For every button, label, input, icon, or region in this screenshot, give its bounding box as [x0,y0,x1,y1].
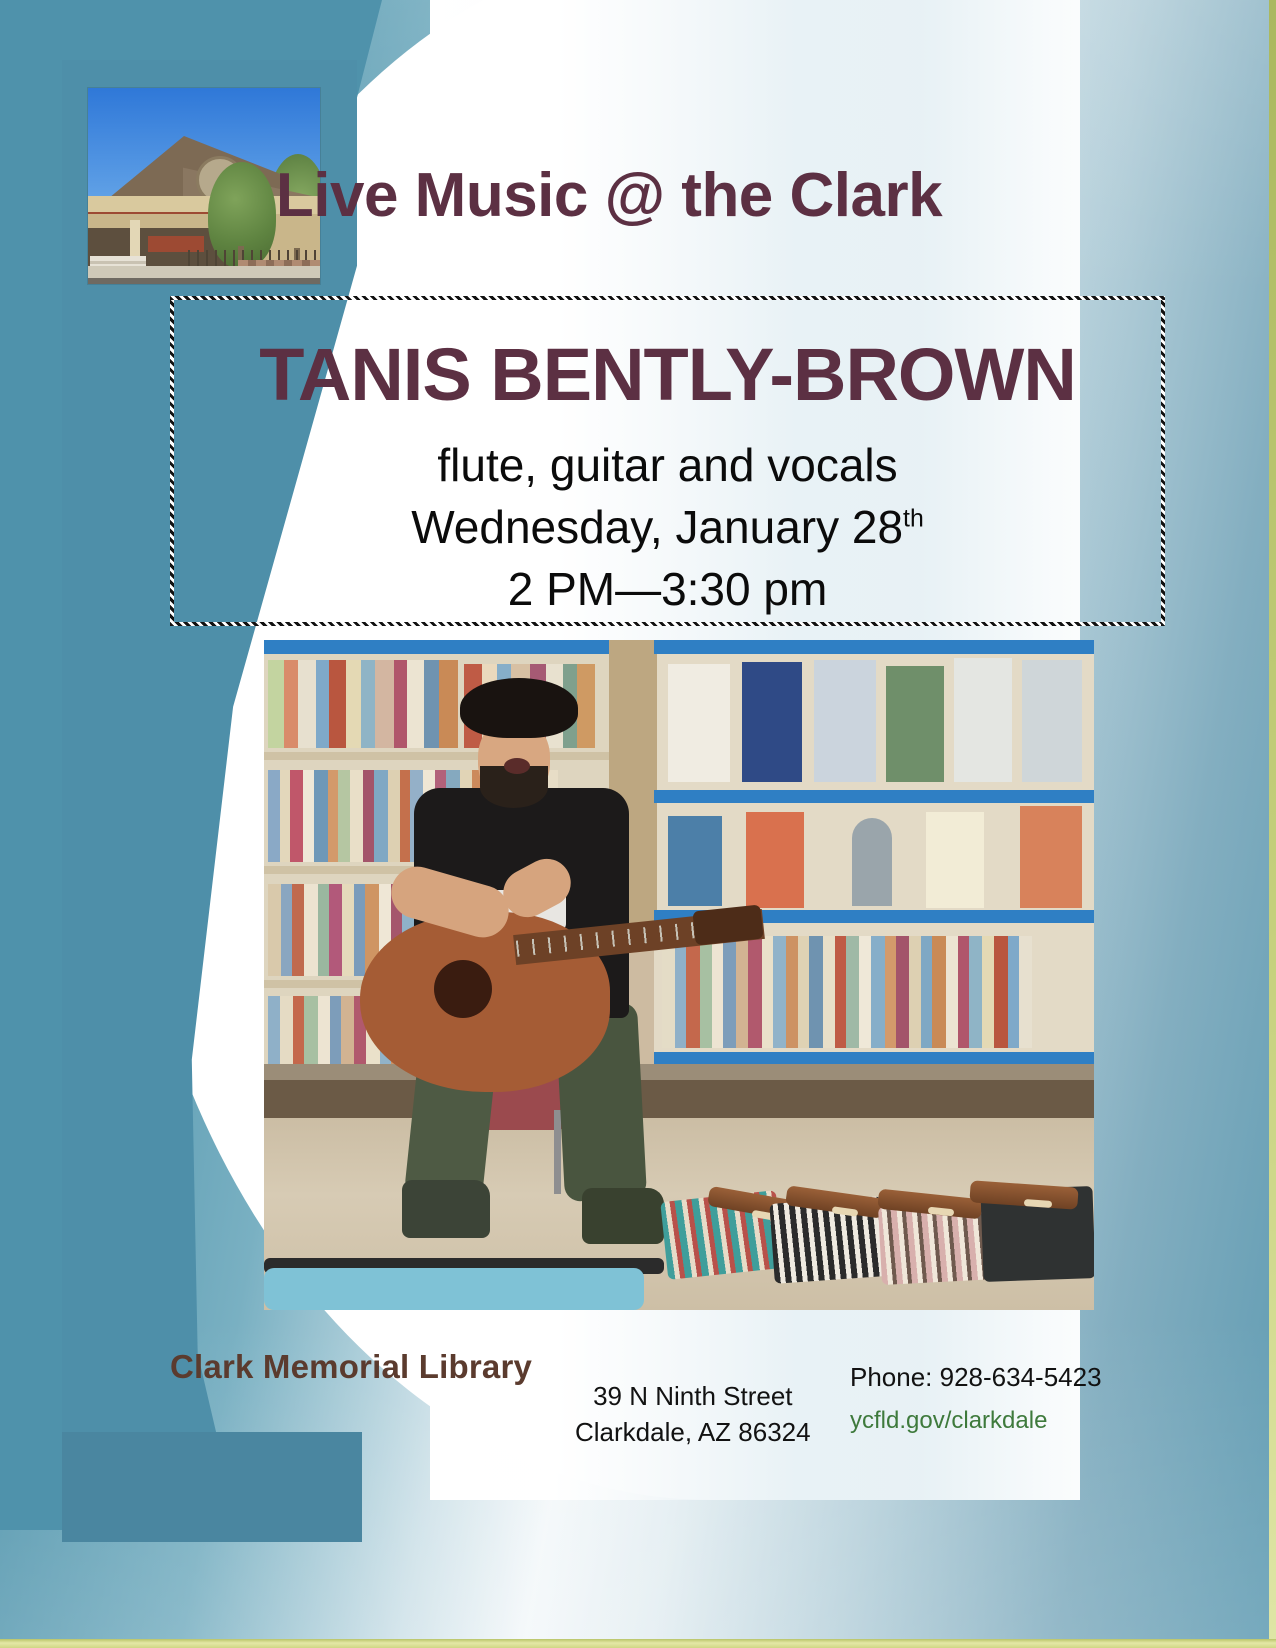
page-title: Live Music @ the Clark [0,160,1218,231]
instrument-case [264,1268,644,1310]
display-book [668,664,730,782]
display-book [668,816,722,906]
library-name: Clark Memorial Library [170,1348,532,1386]
address-street: 39 N Ninth Street [575,1378,811,1414]
performer-boot-right [582,1188,664,1244]
shelf-rail [264,640,609,654]
library-phone: Phone: 928-634-5423 [850,1362,1102,1393]
right-olive-edge [1269,0,1276,1648]
library-contact: Phone: 928-634-5423 ycfld.gov/clarkdale [850,1362,1102,1435]
display-book [1020,806,1082,908]
library-address: 39 N Ninth Street Clarkdale, AZ 86324 [575,1378,811,1450]
performer-boot-left [402,1180,490,1238]
instruments-line: flute, guitar and vocals [170,434,1165,496]
display-book [746,812,804,908]
display-book [1022,660,1082,782]
time-line: 2 PM—3:30 pm [170,558,1165,620]
display-book [926,812,984,908]
native-flute-collection [664,1170,1084,1290]
date-ordinal-suffix: th [903,506,924,533]
performer-hair [460,678,578,738]
shelf-rail [654,790,1094,803]
bottom-olive-edge [0,1639,1276,1648]
performance-photo [264,640,1094,1310]
book-row [662,936,1092,1048]
date-text: Wednesday, January 28 [411,501,903,553]
display-book [742,662,802,782]
book-row [268,660,458,748]
poster-canvas: Live Music @ the Clark TANIS BENTLY-BROW… [0,0,1276,1648]
performer-name: TANIS BENTLY-BROWN [170,332,1165,417]
street [88,278,320,284]
address-city-state-zip: Clarkdale, AZ 86324 [575,1414,811,1450]
shelf-rail [654,640,1094,654]
guitar-headstock [692,905,763,946]
teal-block-bottom-left [62,1432,362,1542]
chair-leg [554,1110,561,1194]
event-info-box: TANIS BENTLY-BROWN flute, guitar and voc… [170,296,1165,626]
library-website-link[interactable]: ycfld.gov/clarkdale [850,1407,1102,1435]
display-book [814,660,876,782]
guitar-sound-hole [434,960,492,1018]
display-book [886,666,944,782]
event-details: flute, guitar and vocals Wednesday, Janu… [170,434,1165,620]
display-stand [852,818,892,906]
date-line: Wednesday, January 28th [170,496,1165,558]
display-book [954,658,1012,782]
